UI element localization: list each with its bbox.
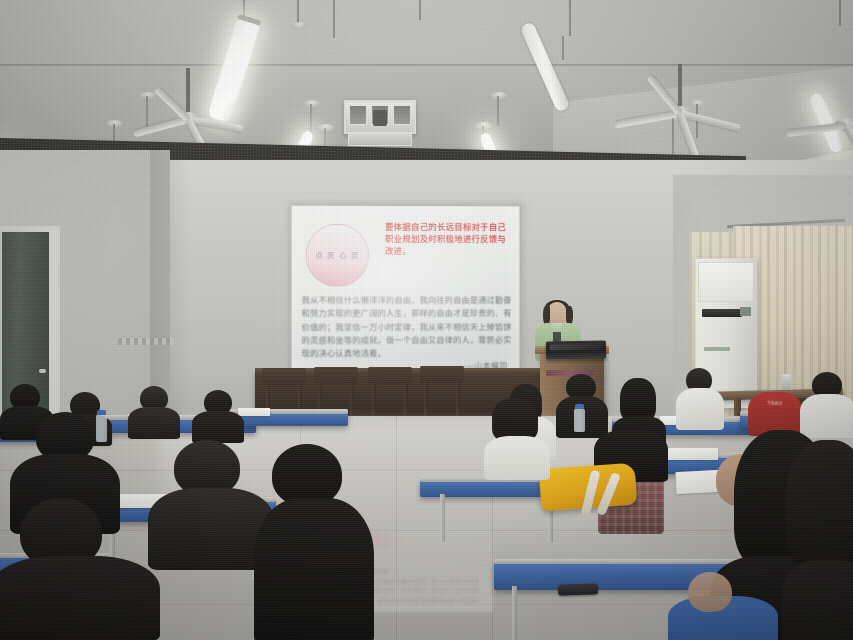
- student-left-row3: [128, 386, 182, 438]
- chair-back: [420, 366, 464, 383]
- student-head: [272, 444, 342, 506]
- student-torso: [782, 560, 853, 640]
- ac-top-panel: [698, 262, 754, 302]
- chair-back: [262, 368, 306, 385]
- chair-leg: [372, 383, 376, 419]
- rod-canopy: [318, 124, 334, 131]
- bottle-cap: [575, 404, 584, 409]
- light-rod: [562, 36, 564, 60]
- light-rod: [497, 96, 499, 126]
- ceiling-projector: [344, 100, 416, 134]
- fan-stem: [678, 64, 682, 110]
- projector-lens: [373, 110, 387, 126]
- ac-vent: [702, 309, 742, 317]
- fan-blade: [786, 122, 846, 137]
- door-knob[interactable]: [39, 369, 46, 373]
- slide-logo-text: 点 亮 心 灵: [315, 250, 359, 261]
- student-right-edge: [786, 440, 853, 640]
- ac-display: [740, 307, 751, 316]
- fan-blade: [133, 116, 189, 137]
- shirt-graphic-text: TRAU: [754, 402, 796, 407]
- rod-canopy: [491, 92, 507, 99]
- chair-back: [314, 367, 358, 384]
- student-head: [688, 572, 732, 612]
- presenter-laptop[interactable]: [546, 340, 606, 359]
- student-torso: [0, 556, 160, 640]
- wall-outlet-strip: [118, 338, 174, 345]
- light-rod: [419, 0, 421, 20]
- projection-screen: 点 亮 心 灵 要体据自己的长远目标对于自己职业规划及时积极地进行反馈与改进。 …: [292, 206, 520, 375]
- slide-logo-circle: 点 亮 心 灵: [306, 224, 369, 287]
- chair-leg: [456, 382, 460, 418]
- projector-rod: [333, 0, 335, 38]
- light-rod: [839, 0, 841, 26]
- chair-leg: [404, 383, 408, 419]
- smartphone[interactable]: [558, 583, 598, 595]
- student-torso: [676, 388, 724, 430]
- ceiling-fan-center: [610, 64, 750, 140]
- wood-chair[interactable]: [420, 366, 464, 418]
- student-far-right: [800, 372, 853, 438]
- chair-back: [368, 367, 412, 384]
- rod-canopy: [291, 22, 307, 29]
- projector-window: [393, 105, 411, 125]
- classroom-photo: 点 亮 心 灵 要体据自己的长远目标对于自己职业规划及时积极地进行反馈与改进。 …: [0, 0, 853, 640]
- student-torso: [128, 407, 180, 439]
- student-hair: [786, 440, 853, 570]
- light-rod: [297, 0, 299, 24]
- projector-window: [349, 105, 367, 125]
- chair-leg: [424, 382, 428, 418]
- rod-canopy: [304, 100, 320, 107]
- light-rod: [310, 104, 312, 134]
- student-torso: [254, 498, 374, 640]
- ceiling-fan-left: [128, 68, 248, 138]
- water-bottle[interactable]: [574, 408, 585, 432]
- fan-blade: [614, 110, 680, 128]
- student-foreground-left: [0, 498, 150, 640]
- light-rod: [569, 0, 571, 36]
- desk-leg: [512, 586, 517, 640]
- student-right-front: [622, 556, 772, 640]
- student-left-row2: [192, 390, 246, 442]
- student-center-mid: [484, 398, 550, 476]
- chair-leg: [350, 383, 354, 419]
- slide-heading: 要体据自己的长远目标对于自己职业规划及时积极地进行反馈与改进。: [385, 222, 507, 258]
- student-torso: [192, 411, 244, 443]
- student-front-left: [260, 444, 370, 640]
- student-torso: [484, 436, 550, 480]
- rod-canopy: [107, 120, 123, 127]
- ceiling-fan-right: [786, 96, 853, 156]
- fan-stem: [186, 68, 190, 116]
- slide-quote: 我从不相信什么懒洋洋的自由、我向往的自由是通过勤奋和努力实现的更广阔的人生，那样…: [302, 295, 512, 358]
- desk-leg: [440, 494, 445, 542]
- slide-body-text: 我从不相信什么懒洋洋的自由、我向往的自由是通过勤奋和努力实现的更广阔的人生，那样…: [302, 294, 512, 374]
- fan-blade: [154, 86, 191, 122]
- student-right-white-top: [676, 368, 724, 430]
- wood-chair[interactable]: [368, 367, 412, 419]
- rod-canopy: [476, 122, 492, 129]
- projector-base: [348, 132, 412, 146]
- ac-slot: [704, 347, 730, 351]
